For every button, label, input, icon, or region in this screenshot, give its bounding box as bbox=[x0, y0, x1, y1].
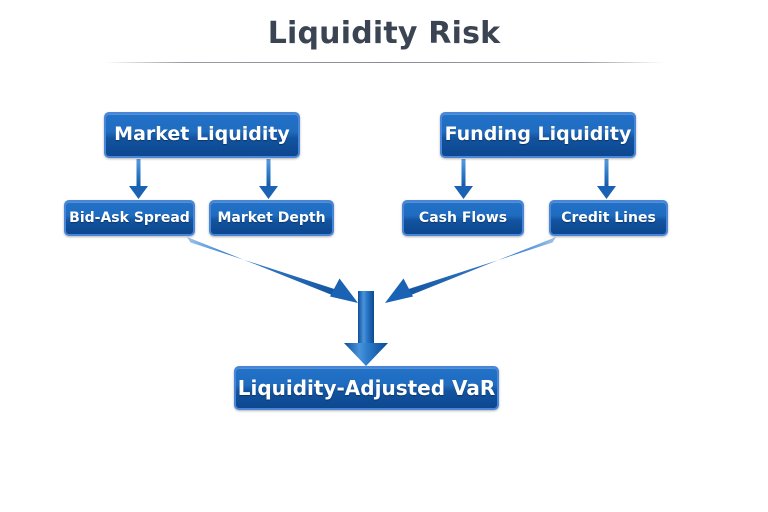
connector-layer bbox=[0, 0, 768, 512]
node-credit-lines[interactable]: Credit Lines bbox=[549, 200, 668, 236]
arrow-funding-liquidity-to-cash-flows bbox=[454, 159, 473, 199]
node-cash-flows[interactable]: Cash Flows bbox=[402, 200, 524, 236]
node-bid-ask-spread[interactable]: Bid-Ask Spread bbox=[64, 200, 195, 236]
node-market-depth[interactable]: Market Depth bbox=[209, 200, 334, 236]
title-divider bbox=[104, 62, 664, 63]
node-liquidity-adjusted-var[interactable]: Liquidity-Adjusted VaR bbox=[234, 366, 499, 410]
node-market-liquidity[interactable]: Market Liquidity bbox=[104, 112, 300, 158]
arrow-funding-liquidity-to-credit-lines bbox=[597, 159, 616, 199]
arrow-left-branch-to-convergence bbox=[187, 237, 358, 303]
node-funding-liquidity[interactable]: Funding Liquidity bbox=[440, 112, 636, 158]
diagram-canvas: Liquidity Risk bbox=[0, 0, 768, 512]
page-title: Liquidity Risk bbox=[0, 16, 768, 51]
arrow-convergence-to-liquidity-adjusted-var bbox=[344, 291, 388, 366]
arrow-market-liquidity-to-bid-ask-spread bbox=[129, 159, 148, 199]
arrow-right-branch-to-convergence bbox=[385, 237, 556, 303]
arrow-market-liquidity-to-market-depth bbox=[259, 159, 278, 199]
